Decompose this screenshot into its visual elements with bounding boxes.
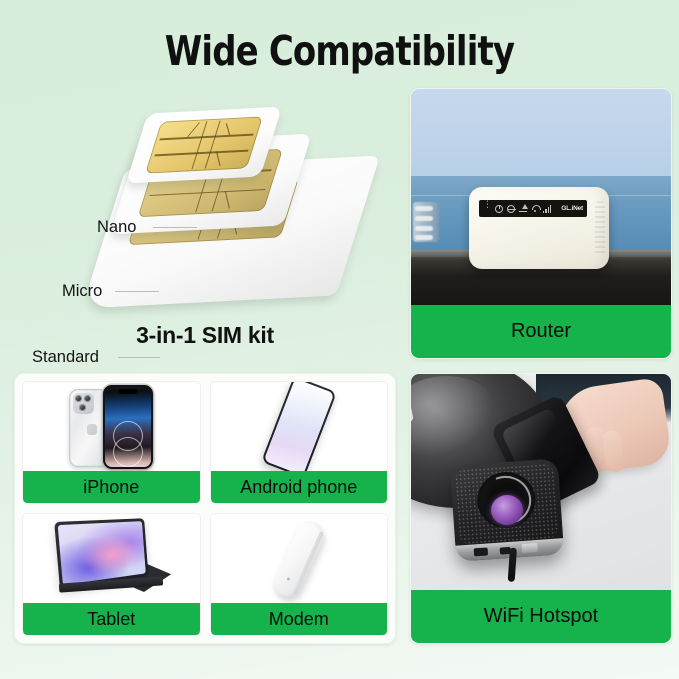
hotspot-label: WiFi Hotspot [411, 590, 671, 643]
gl-inet-logo: GL.iNet [561, 205, 583, 212]
micro-label: Micro [62, 282, 102, 301]
sim-kit-section: Nano Micro Standard 3-in-1 SIM kit [14, 96, 396, 366]
camera-module-icon [73, 393, 94, 414]
nano-sim-card [126, 107, 282, 184]
page-title: Wide Compatibility [27, 0, 652, 75]
tray-card-detail [411, 374, 414, 430]
device-tile-iphone[interactable]: iPhone [22, 381, 201, 504]
devices-card: iPhone Android phone Tablet [14, 373, 396, 644]
nano-sim-chip-icon [145, 116, 263, 173]
device-tile-tablet[interactable]: Tablet [22, 513, 201, 636]
router-label: Router [411, 305, 671, 358]
device-label-iphone: iPhone [23, 471, 200, 503]
nano-leader-line [153, 227, 197, 228]
micro-leader-line [115, 291, 159, 292]
router-device: GL.iNet [469, 187, 609, 269]
device-label-android-phone: Android phone [211, 471, 388, 503]
router-photo: GL.iNet [411, 89, 671, 307]
network-icon [519, 204, 527, 213]
port-1 [474, 547, 489, 556]
android-phone-icon [211, 382, 388, 471]
device-tile-modem[interactable]: Modem [210, 513, 389, 636]
sim-kit-caption: 3-in-1 SIM kit [14, 322, 396, 349]
usb-modem-icon [211, 514, 388, 603]
mobile-hotspot-device [450, 458, 564, 561]
signal-bars-icon [543, 205, 551, 213]
wifi-icon [531, 204, 539, 213]
router-status-panel: GL.iNet [479, 200, 587, 217]
device-tile-android-phone[interactable]: Android phone [210, 381, 389, 504]
nano-label: Nano [97, 218, 136, 237]
standard-label: Standard [32, 348, 99, 367]
hotspot-photo [411, 374, 671, 592]
standard-leader-line [118, 357, 160, 358]
iphone-icon [23, 382, 200, 471]
router-card[interactable]: GL.iNet Router [410, 88, 672, 359]
dots-icon [483, 204, 491, 213]
globe-icon [507, 205, 515, 213]
apple-logo-icon [87, 424, 97, 435]
device-label-tablet: Tablet [23, 603, 200, 635]
railing-detail [413, 202, 439, 242]
port-3 [521, 543, 538, 553]
dynamic-island-icon [119, 389, 137, 394]
devices-grid: iPhone Android phone Tablet [22, 381, 388, 636]
power-icon [495, 205, 503, 213]
hotspot-card[interactable]: WiFi Hotspot [410, 373, 672, 644]
iphone-front-view [103, 385, 153, 469]
sky-background [411, 89, 671, 183]
tablet-icon [23, 514, 200, 603]
device-label-modem: Modem [211, 603, 388, 635]
poster-stage: Wide Compatibility [0, 0, 679, 679]
